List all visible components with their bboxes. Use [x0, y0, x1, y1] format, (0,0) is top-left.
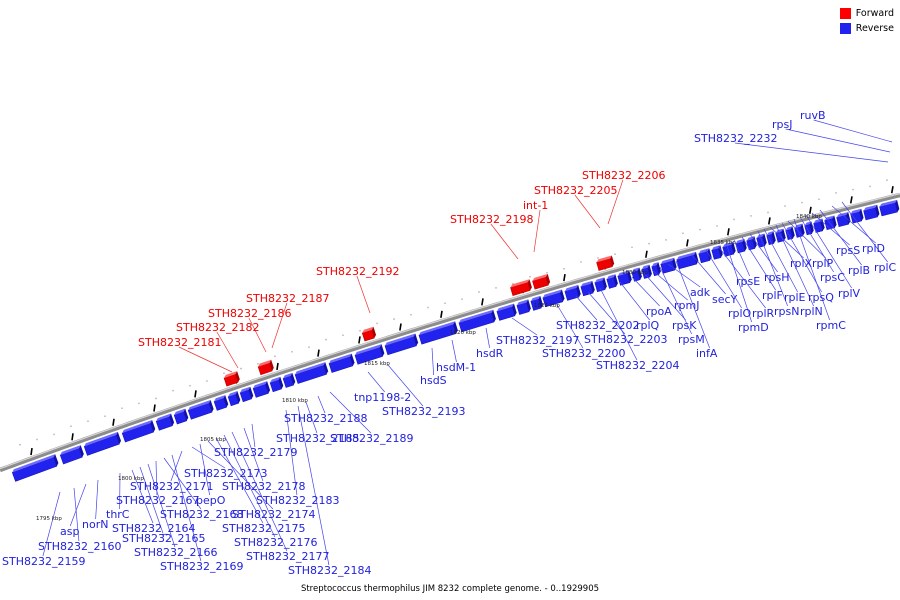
legend-item-reverse: Reverse	[840, 23, 894, 34]
gene-label[interactable]: pepO	[196, 495, 225, 506]
gene-label[interactable]: rpmC	[816, 320, 846, 331]
gene-label[interactable]: infA	[696, 348, 717, 359]
gene-label[interactable]: STH8232_2198	[450, 214, 533, 225]
gene-label[interactable]: STH8232_2181	[138, 337, 221, 348]
gene-label[interactable]: rplC	[874, 262, 896, 273]
gene-label[interactable]: STH8232_2174	[232, 509, 315, 520]
genome-map-figure: 1795 kbp1800 kbp1805 kbp1810 kbp1815 kbp…	[0, 0, 900, 600]
gene-label[interactable]: STH8232_2203	[584, 334, 667, 345]
scale-tick-label: 1820 kbp	[450, 330, 476, 336]
gene-label[interactable]: STH8232_2197	[496, 335, 579, 346]
legend-item-forward: Forward	[840, 8, 894, 19]
gene-label[interactable]: rpmJ	[674, 300, 699, 311]
gene-label[interactable]: rpsE	[736, 276, 760, 287]
gene-label[interactable]: STH8232_2232	[694, 133, 777, 144]
scale-tick-label: 1810 kbp	[282, 398, 308, 404]
scale-tick-label: 1835 kbp	[710, 240, 736, 246]
gene-label[interactable]: hsdS	[420, 375, 447, 386]
gene-label[interactable]: rpsN	[774, 306, 799, 317]
gene-label[interactable]: STH8232_2205	[534, 185, 617, 196]
gene-label[interactable]: STH8232_2188	[284, 413, 367, 424]
gene-label[interactable]: rplB	[848, 265, 870, 276]
gene-label[interactable]: tnp1198-2	[354, 392, 411, 403]
gene-label[interactable]: rpoA	[646, 306, 672, 317]
legend-swatch-forward	[840, 8, 851, 19]
gene-label[interactable]: STH8232_2183	[256, 495, 339, 506]
gene-label[interactable]: STH8232_2187	[246, 293, 329, 304]
gene-label[interactable]: STH8232_2171	[130, 481, 213, 492]
gene-label[interactable]: STH8232_2176	[234, 537, 317, 548]
scale-tick-label: 1795 kbp	[36, 516, 62, 522]
gene-label[interactable]: rpsC	[820, 272, 845, 283]
scale-tick-label: 1815 kbp	[364, 361, 390, 367]
gene-label[interactable]: STH8232_2202	[556, 320, 639, 331]
gene-label[interactable]: rplD	[862, 243, 885, 254]
gene-label[interactable]: STH8232_2200	[542, 348, 625, 359]
scale-tick-label: 1825 kbp	[534, 303, 560, 309]
gene-label[interactable]: STH8232_2159	[2, 556, 85, 567]
gene-label[interactable]: STH8232_2168	[160, 509, 243, 520]
gene-label[interactable]: rplX	[790, 258, 812, 269]
gene-label[interactable]: hsdR	[476, 348, 503, 359]
gene-label[interactable]: STH8232_2178	[222, 481, 305, 492]
gene-label[interactable]: secY	[712, 294, 737, 305]
gene-label[interactable]: rplP	[812, 258, 833, 269]
gene-label[interactable]: adk	[690, 287, 710, 298]
gene-label[interactable]: norN	[82, 519, 108, 530]
gene-label[interactable]: rplF	[762, 290, 783, 301]
gene-label[interactable]: rplO	[728, 308, 751, 319]
gene-label[interactable]: STH8232_2177	[246, 551, 329, 562]
gene-label[interactable]: hsdM-1	[436, 362, 476, 373]
gene-label[interactable]: rpmD	[738, 322, 769, 333]
legend: Forward Reverse	[840, 8, 894, 38]
gene-label[interactable]: rpsH	[764, 272, 790, 283]
gene-label[interactable]: STH8232_2206	[582, 170, 665, 181]
gene-label[interactable]: STH8232_2186	[208, 308, 291, 319]
gene-label[interactable]: STH8232_2165	[122, 533, 205, 544]
scale-tick-label: 1840 kbp	[796, 214, 822, 220]
gene-label[interactable]: STH8232_2160	[38, 541, 121, 552]
legend-label-forward: Forward	[856, 8, 894, 19]
gene-label[interactable]: rplQ	[636, 320, 659, 331]
gene-label[interactable]: rpsM	[678, 334, 705, 345]
scale-tick-label: 1830 kbp	[622, 270, 648, 276]
gene-label[interactable]: STH8232_2204	[596, 360, 679, 371]
gene-label[interactable]: STH8232_2182	[176, 322, 259, 333]
gene-label[interactable]: asp	[60, 526, 79, 537]
gene-label[interactable]: STH8232_2173	[184, 468, 267, 479]
gene-label[interactable]: rplR	[752, 308, 774, 319]
gene-label[interactable]: int-1	[523, 200, 548, 211]
gene-label[interactable]: STH8232_2189	[330, 433, 413, 444]
gene-label[interactable]: STH8232_2175	[222, 523, 305, 534]
gene-label[interactable]: STH8232_2167	[116, 495, 199, 506]
gene-label[interactable]: STH8232_2166	[134, 547, 217, 558]
gene-label[interactable]: thrC	[106, 509, 130, 520]
figure-caption: Streptococcus thermophilus JIM 8232 comp…	[0, 584, 900, 594]
gene-label[interactable]: STH8232_2192	[316, 266, 399, 277]
gene-label[interactable]: rplV	[838, 288, 860, 299]
legend-swatch-reverse	[840, 23, 851, 34]
gene-label[interactable]: ruvB	[800, 110, 826, 121]
legend-label-reverse: Reverse	[856, 23, 894, 34]
gene-label[interactable]: rplN	[800, 306, 823, 317]
gene-label[interactable]: rpsQ	[808, 292, 834, 303]
gene-label[interactable]: STH8232_2184	[288, 565, 371, 576]
gene-label[interactable]: rpsK	[672, 320, 696, 331]
gene-label[interactable]: STH8232_2169	[160, 561, 243, 572]
gene-label[interactable]: rpsS	[836, 245, 860, 256]
gene-label[interactable]: STH8232_2193	[382, 406, 465, 417]
scale-tick-label: 1805 kbp	[200, 437, 226, 443]
gene-label[interactable]: rpsJ	[772, 119, 792, 130]
gene-label[interactable]: rplE	[784, 292, 806, 303]
gene-label[interactable]: STH8232_2179	[214, 447, 297, 458]
